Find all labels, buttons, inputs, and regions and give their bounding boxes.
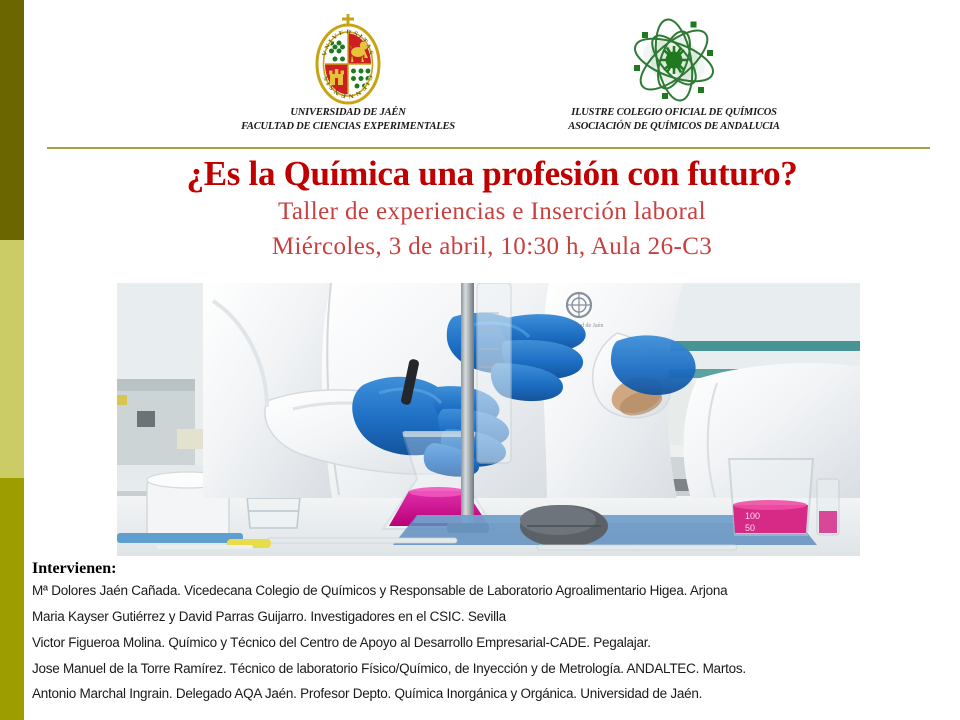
speaker-line: Victor Figueroa Molina. Químico y Técnic… (32, 636, 937, 651)
title-zone: ¿Es la Química una profesión con futuro?… (24, 155, 960, 263)
atom-icon (504, 14, 844, 106)
logo-caption-colegio-line1: ILUSTRE COLEGIO OFICIAL DE QUÍMICOS (504, 106, 844, 120)
header-divider-rule (47, 147, 930, 149)
subtitle-line-1: Taller de experiencias e Inserción labor… (24, 196, 960, 228)
speakers-heading: Intervienen: (32, 560, 937, 578)
poster-page: { "theme": { "sidebar_dark_olive": "#6b6… (0, 0, 960, 720)
subtitle-line-2: Miércoles, 3 de abril, 10:30 h, Aula 26-… (24, 231, 960, 263)
university-seal-icon: VNIVERSITAS GIENNENSIS (198, 14, 498, 106)
logo-caption-uja: UNIVERSIDAD DE JAÉN FACULTAD DE CIENCIAS… (198, 106, 498, 134)
logo-caption-colegio: ILUSTRE COLEGIO OFICIAL DE QUÍMICOS ASOC… (504, 106, 844, 134)
sidebar-segment-olive (0, 478, 24, 720)
speakers-section: Intervienen: Mª Dolores Jaén Cañada. Vic… (32, 560, 937, 713)
speaker-line: Jose Manuel de la Torre Ramírez. Técnico… (32, 662, 937, 677)
logo-caption-uja-line2: FACULTAD DE CIENCIAS EXPERIMENTALES (198, 120, 498, 134)
decorative-sidebar (0, 0, 24, 720)
speaker-line: Antonio Marchal Ingrain. Delegado AQA Ja… (32, 687, 937, 702)
laboratory-photo: Universidad de Jaén (117, 283, 860, 556)
logo-block-colegio-quimicos: ILUSTRE COLEGIO OFICIAL DE QUÍMICOS ASOC… (504, 14, 844, 134)
beaker-label-50: 50 (745, 523, 755, 533)
speaker-line: Mª Dolores Jaén Cañada. Vicedecana Coleg… (32, 584, 937, 599)
beaker-label-100: 100 (745, 511, 760, 521)
sidebar-segment-dark-olive (0, 0, 24, 240)
speaker-line: Maria Kayser Gutiérrez y David Parras Gu… (32, 610, 937, 625)
logo-caption-colegio-line2: ASOCIACIÓN DE QUÍMICOS DE ANDALUCIA (504, 120, 844, 134)
logo-block-universidad-de-jaen: VNIVERSITAS GIENNENSIS (198, 14, 498, 134)
page-title: ¿Es la Química una profesión con futuro? (24, 155, 960, 193)
header-logo-band: VNIVERSITAS GIENNENSIS (24, 0, 960, 148)
logo-caption-uja-line1: UNIVERSIDAD DE JAÉN (198, 106, 498, 120)
sidebar-segment-light-khaki (0, 240, 24, 478)
